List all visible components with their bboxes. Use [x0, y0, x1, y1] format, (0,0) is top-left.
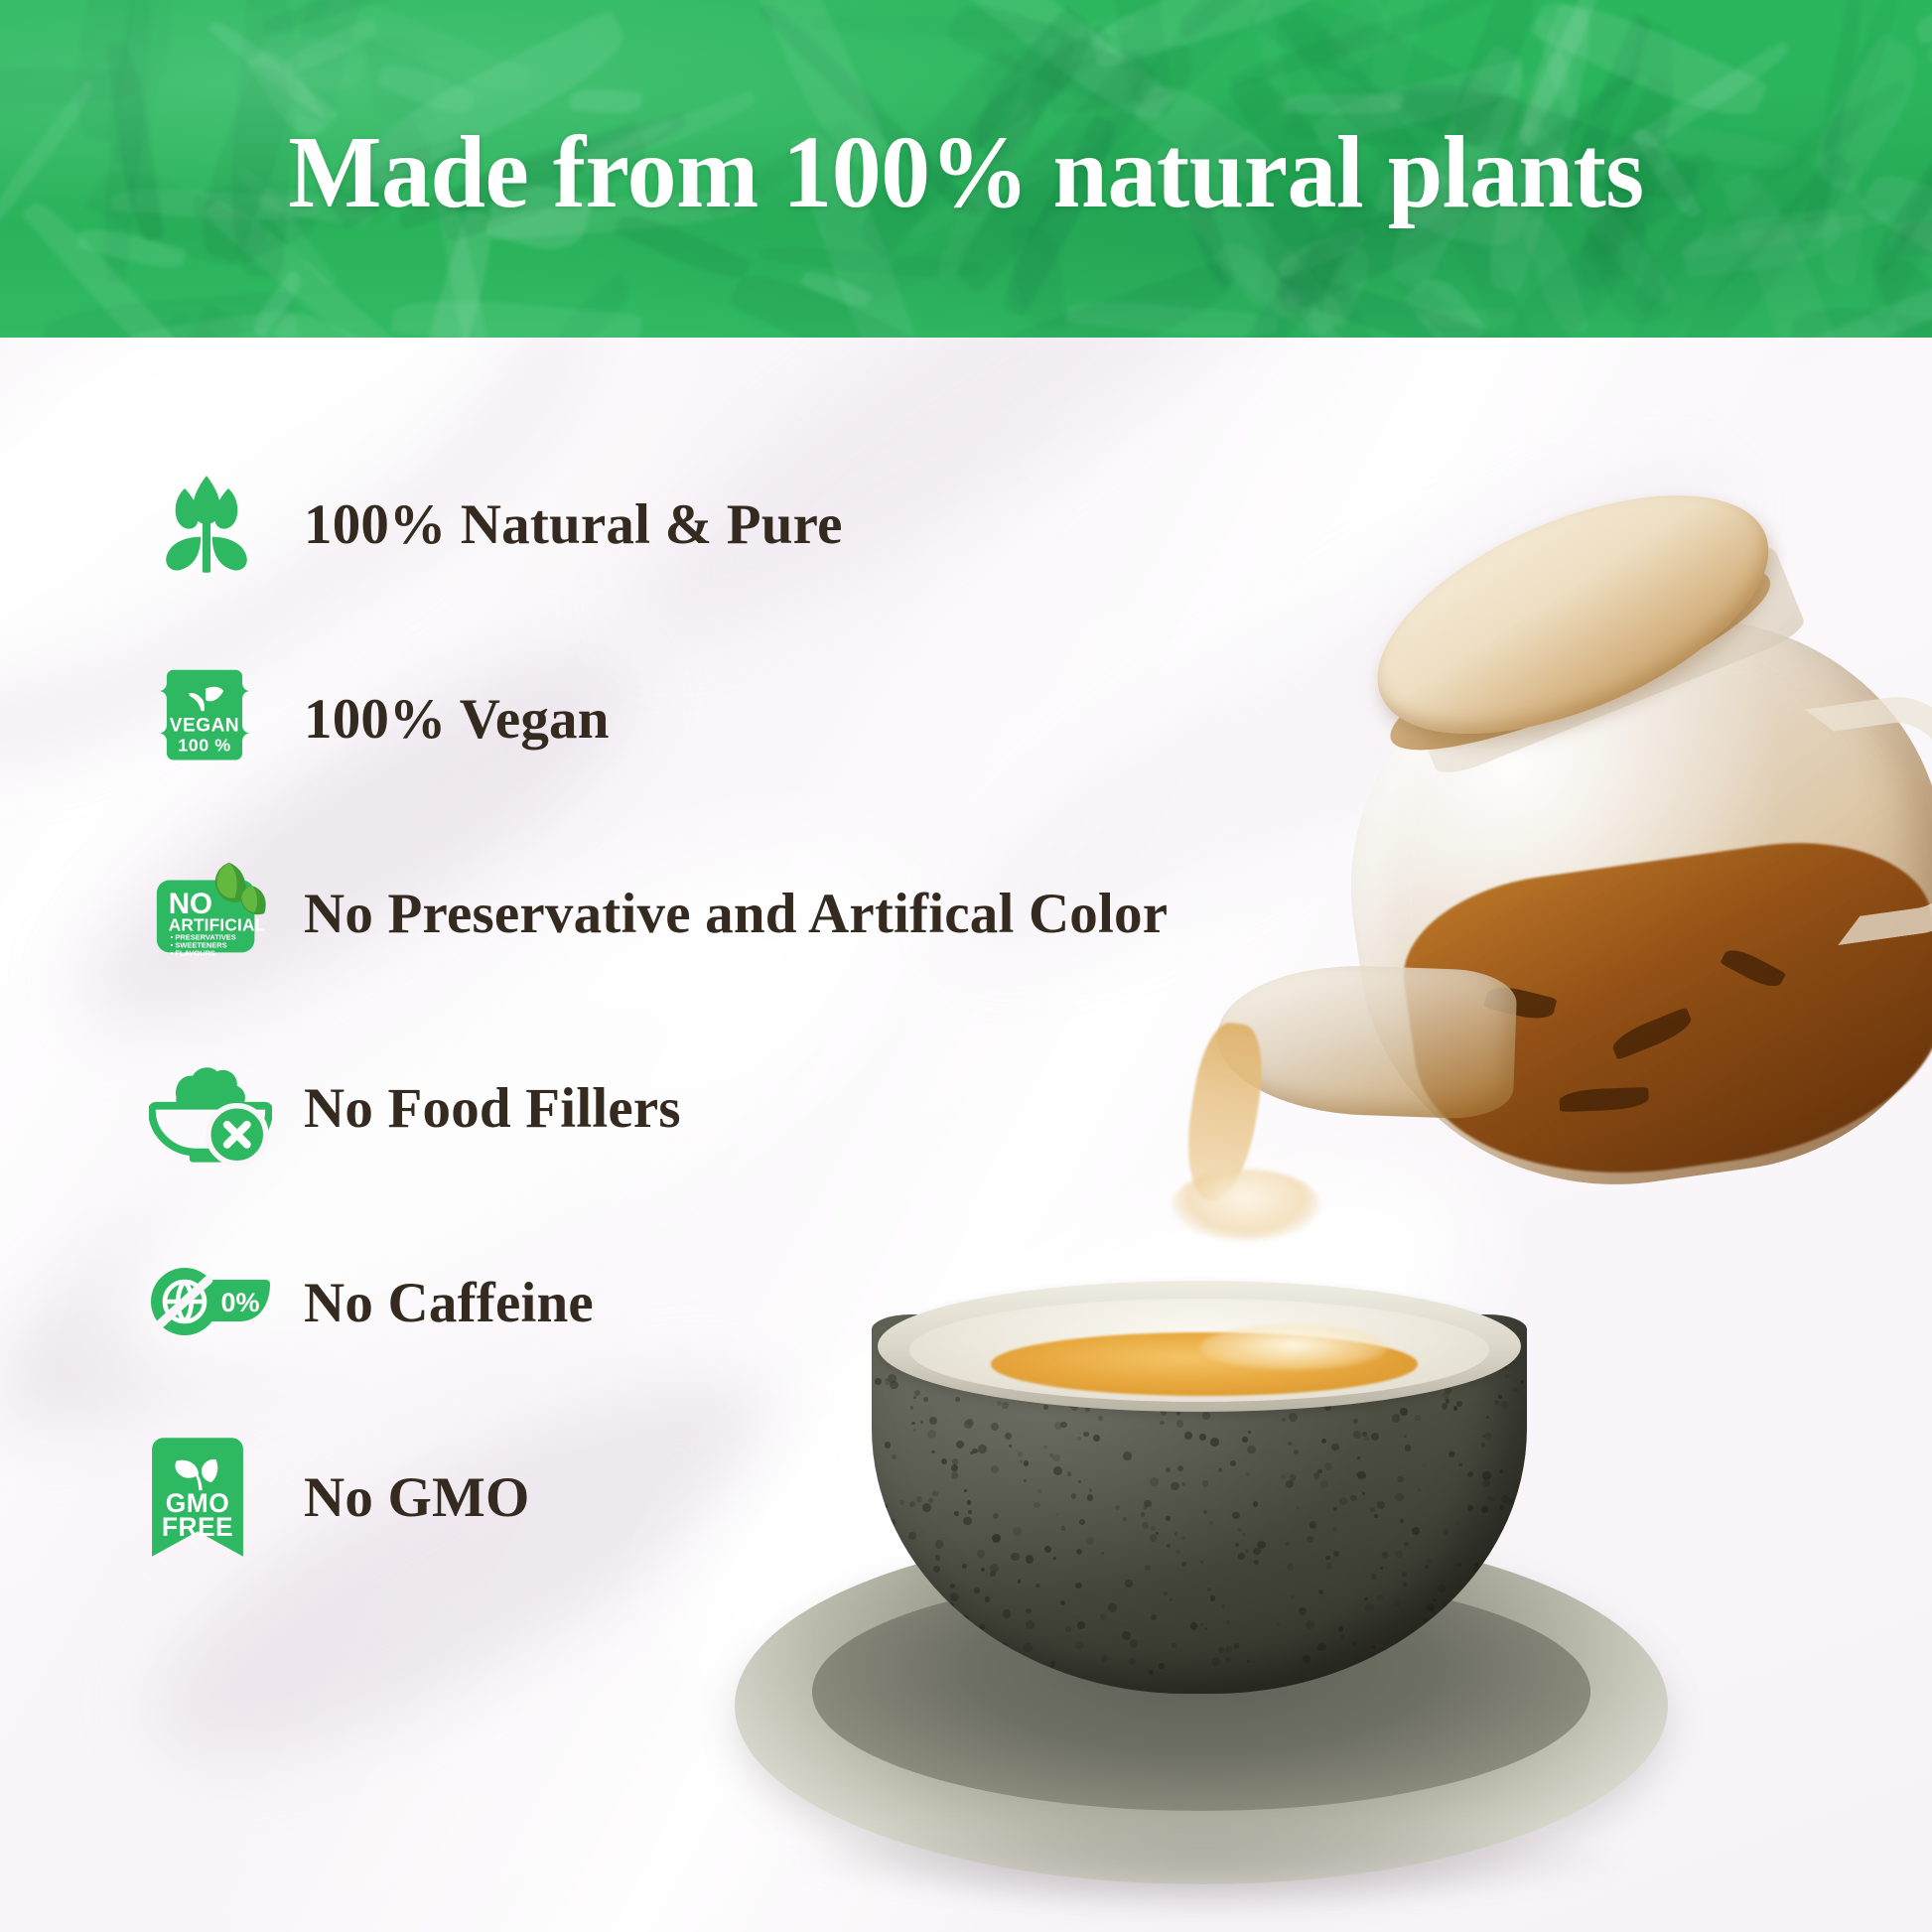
feature-label: No Preservative and Artifical Color: [304, 882, 1168, 946]
no-artificial-badge-icon: NO ARTIFICIAL • PRESERVATIVES • SWEETENE…: [149, 849, 278, 978]
infographic-canvas: Made from 100% natural plants: [0, 0, 1932, 1932]
feature-item-no-artificial: NO ARTIFICIAL • PRESERVATIVES • SWEETENE…: [149, 816, 1340, 1011]
vegan-100-badge-icon: VEGAN 100 %: [149, 654, 278, 783]
feature-label: No Food Fillers: [304, 1076, 681, 1141]
plant-sprout-icon: [149, 460, 278, 589]
no-artificial-bullet-3: • FLAVOURS: [171, 948, 215, 957]
feature-label: 100% Vegan: [304, 687, 610, 752]
feature-item-no-caffeine: 0% No Caffeine: [149, 1205, 1340, 1400]
feature-list: 100% Natural & Pure VEGAN 100 % 100% Veg…: [149, 427, 1340, 1594]
feature-item-no-food-fillers: No Food Fillers: [149, 1011, 1340, 1205]
feature-label: 100% Natural & Pure: [304, 492, 843, 557]
feature-item-natural-pure: 100% Natural & Pure: [149, 427, 1340, 621]
feature-label: No Caffeine: [304, 1271, 594, 1335]
page-title: Made from 100% natural plants: [39, 121, 1893, 224]
gmo-free-badge-icon: GMO FREE: [149, 1433, 278, 1562]
feature-item-vegan: VEGAN 100 % 100% Vegan: [149, 621, 1340, 816]
feature-item-no-gmo: GMO FREE No GMO: [149, 1400, 1340, 1594]
gmo-badge-line2: FREE: [162, 1512, 233, 1542]
header-banner: Made from 100% natural plants: [0, 0, 1932, 338]
vegan-badge-line1: VEGAN: [170, 715, 239, 736]
vegan-badge-line2: 100 %: [178, 735, 231, 755]
no-caffeine-percent: 0%: [220, 1288, 259, 1317]
no-caffeine-icon: 0%: [149, 1238, 278, 1367]
no-food-fillers-icon: [149, 1043, 278, 1173]
feature-label: No GMO: [304, 1465, 530, 1530]
